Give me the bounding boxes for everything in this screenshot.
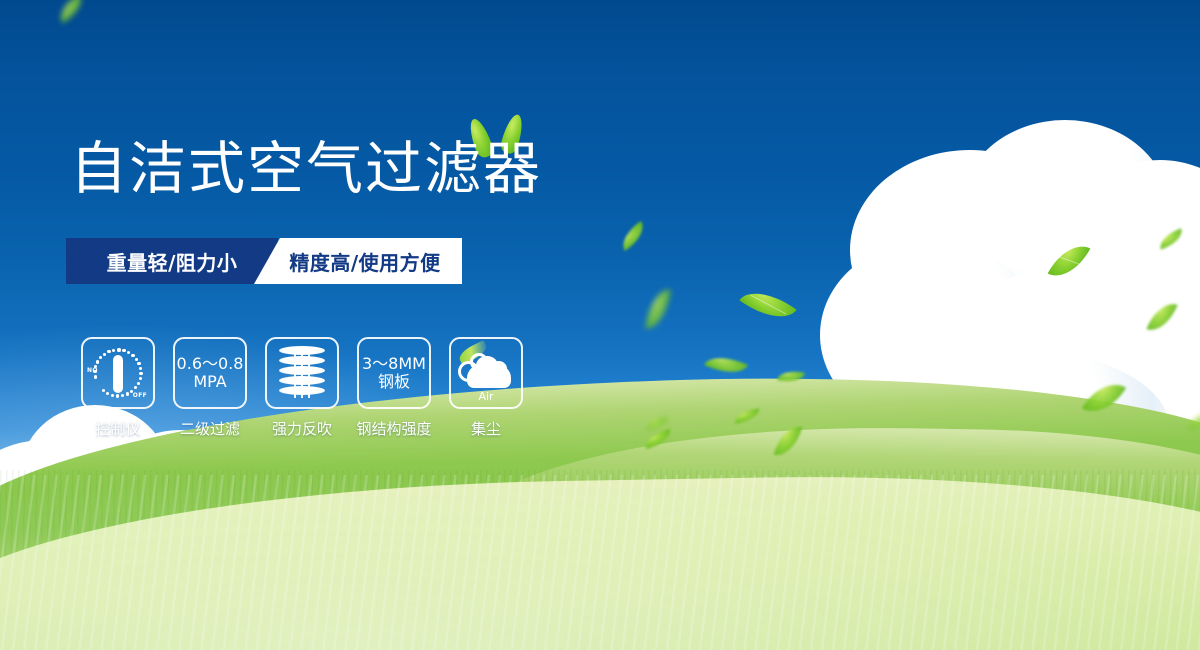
dial-label-off: OFF xyxy=(133,392,147,399)
dial-tick-dot xyxy=(103,353,106,356)
dial-needle xyxy=(113,355,123,393)
dial-tick-dot xyxy=(139,377,142,380)
feature-caption: 控制仪 xyxy=(95,418,140,439)
feature-icon-box xyxy=(265,337,339,409)
grass-highlight xyxy=(0,475,1200,650)
feature-caption: 钢结构强度 xyxy=(356,418,431,439)
dial-tick-dot xyxy=(106,392,109,395)
feature-caption: 二级过滤 xyxy=(180,418,240,439)
feature-item-secondary-filtration[interactable]: 0.6～0.8 MPA 二级过滤 xyxy=(172,337,248,439)
feature-caption: 集尘 xyxy=(471,418,501,439)
dial-tick-dot xyxy=(139,372,142,375)
steel-material: 钢板 xyxy=(362,373,426,391)
dial-tick-dot xyxy=(137,362,140,365)
feature-item-controller[interactable]: NO OFF 控制仪 xyxy=(80,337,156,439)
dial-tick-dot xyxy=(111,394,114,397)
dial-tick-dot xyxy=(126,392,129,395)
page-title: 自洁式空气过滤器 xyxy=(70,141,542,198)
grass-field xyxy=(0,450,1200,650)
dial-tick-dot xyxy=(94,375,97,378)
dial-tick-dot xyxy=(135,358,138,361)
subtitle-bar: 重量轻/阻力小 精度高/使用方便 xyxy=(66,238,462,284)
pressure-value-icon: 0.6～0.8 MPA xyxy=(177,355,244,391)
dial-tick-dot xyxy=(131,354,134,357)
feature-item-dust-collection[interactable]: Air 集尘 xyxy=(448,337,524,439)
dial-tick-dot xyxy=(96,360,99,363)
subtitle-right-text: 精度高/使用方便 xyxy=(275,247,440,276)
subtitle-right-panel: 精度高/使用方便 xyxy=(254,238,462,284)
dial-tick-dot xyxy=(127,351,130,354)
feature-item-backblow[interactable]: 强力反吹 xyxy=(264,337,340,439)
dial-tick-dot xyxy=(102,389,105,392)
air-label: Air xyxy=(456,390,516,403)
dial-tick-dot xyxy=(139,367,142,370)
feature-icon-box: NO OFF xyxy=(81,337,155,409)
dial-tick-dot xyxy=(134,386,137,389)
feature-list: NO OFF 控制仪 0.6～0.8 MPA 二级过滤 xyxy=(80,337,524,439)
steel-plate-icon: 3～8MM 钢板 xyxy=(362,355,426,391)
dial-gauge-icon: NO OFF xyxy=(87,343,149,403)
filter-coil-icon xyxy=(279,346,325,400)
steel-thickness: 3～8MM xyxy=(362,355,426,373)
dial-tick-dot xyxy=(112,349,115,352)
feature-icon-box: 3～8MM 钢板 xyxy=(357,337,431,409)
feature-caption: 强力反吹 xyxy=(272,418,332,439)
dial-tick-dot xyxy=(122,349,125,352)
pressure-range: 0.6～0.8 xyxy=(177,355,244,373)
feature-item-steel-strength[interactable]: 3～8MM 钢板 钢结构强度 xyxy=(356,337,432,439)
dial-tick-dot xyxy=(121,394,124,397)
feature-icon-box: Air xyxy=(449,337,523,409)
dial-tick-dot xyxy=(117,348,120,351)
pressure-unit: MPA xyxy=(177,373,244,391)
cloud-air-icon: Air xyxy=(456,345,516,401)
subtitle-left-panel: 重量轻/阻力小 xyxy=(66,238,278,284)
subtitle-left-text: 重量轻/阻力小 xyxy=(107,247,238,276)
dial-tick-dot xyxy=(137,382,140,385)
dial-tick-dot xyxy=(99,356,102,359)
dial-tick-dot xyxy=(107,350,110,353)
product-banner: 自洁式空气过滤器 重量轻/阻力小 精度高/使用方便 NO OFF 控制仪 xyxy=(0,0,1200,650)
dial-tick-dot xyxy=(116,394,119,397)
feature-icon-box: 0.6～0.8 MPA xyxy=(173,337,247,409)
cloud-body xyxy=(467,365,511,388)
